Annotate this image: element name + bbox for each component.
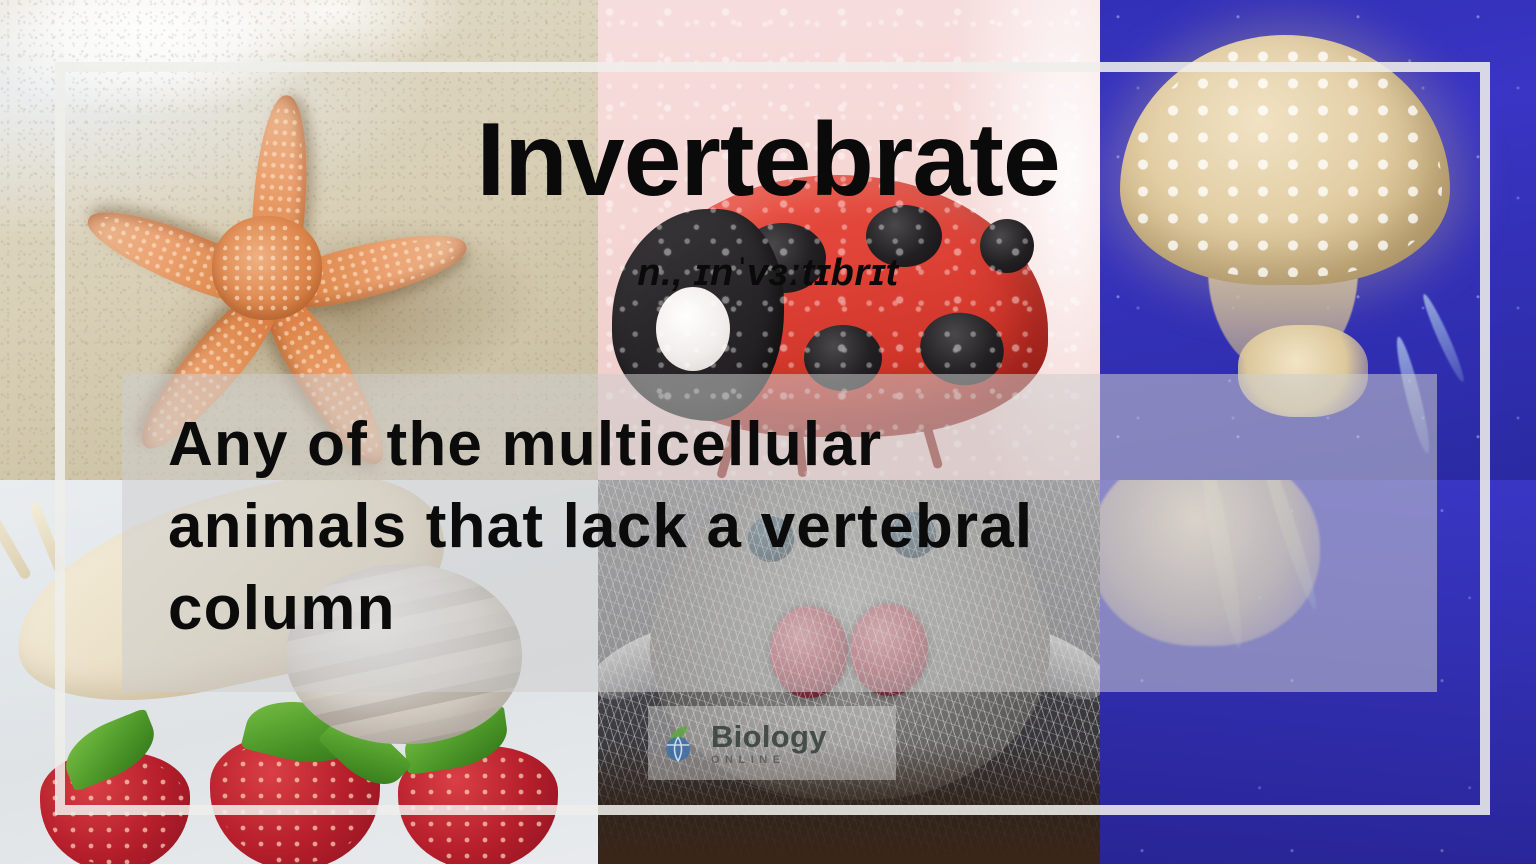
definition-line: animals that lack a vertebral [168, 486, 1398, 568]
definition-line: column [168, 568, 1398, 650]
watermark: Biology ONLINE [648, 706, 896, 780]
pronunciation: n., ɪnˈvɜːtɪbrɪt [0, 252, 1536, 295]
leaf-globe-icon [658, 721, 702, 765]
definition-text: Any of the multicellular animals that la… [168, 404, 1398, 649]
page-title: Invertebrate [0, 108, 1536, 212]
watermark-text: Biology ONLINE [711, 721, 827, 766]
brand-name: Biology [711, 721, 827, 752]
definition-line: Any of the multicellular [168, 404, 1398, 486]
brand-tagline: ONLINE [711, 755, 827, 766]
invertebrate-definition-card: Invertebrate n., ɪnˈvɜːtɪbrɪt Any of the… [0, 0, 1536, 864]
strawberries [0, 694, 598, 864]
